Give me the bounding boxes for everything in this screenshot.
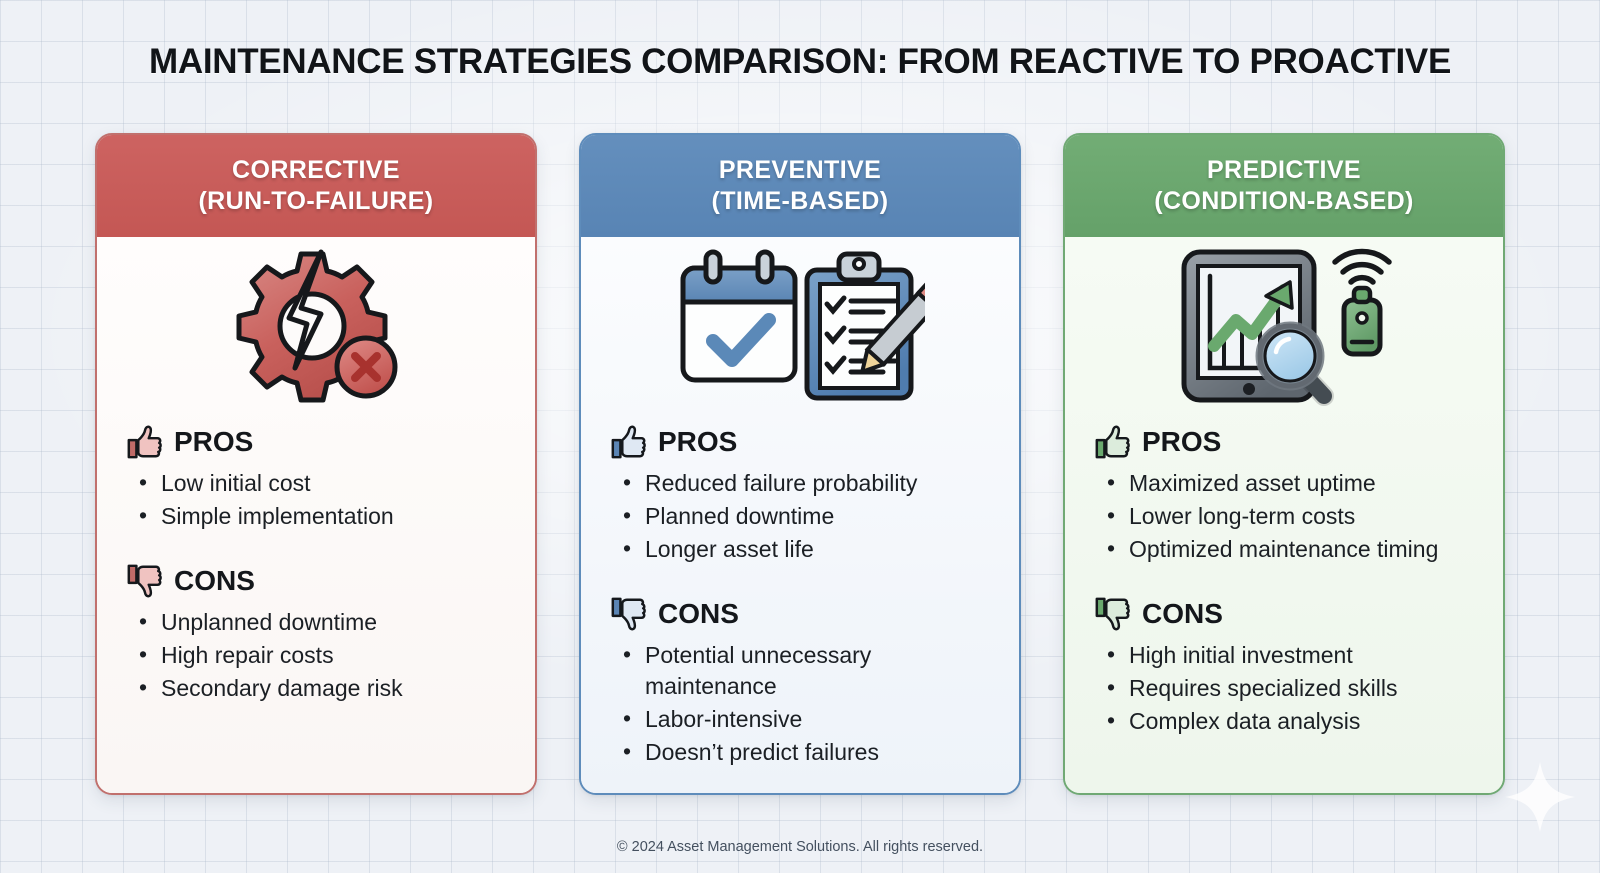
card-corrective[interactable]: CORRECTIVE (RUN-TO-FAILURE) — [95, 133, 537, 795]
list-item: Longer asset life — [623, 534, 991, 565]
card-predictive-title-line1: PREDICTIVE — [1207, 156, 1361, 185]
list-item: Optimized maintenance timing — [1107, 534, 1475, 565]
card-predictive[interactable]: PREDICTIVE (CONDITION-BASED) — [1063, 133, 1505, 795]
thumbs-up-icon — [609, 423, 647, 461]
thumbs-down-icon — [125, 562, 163, 600]
list-item: Requires specialized skills — [1107, 673, 1475, 704]
calendar-clipboard-checklist-pencil-icon — [675, 246, 925, 406]
list-item: Complex data analysis — [1107, 706, 1475, 737]
list-item: High initial investment — [1107, 640, 1475, 671]
copyright-footer: © 2024 Asset Management Solutions. All r… — [0, 839, 1600, 855]
page-title: MAINTENANCE STRATEGIES COMPARISON: FROM … — [0, 42, 1600, 82]
card-predictive-illustration — [1093, 237, 1475, 415]
card-corrective-pros-list: Low initial cost Simple implementation — [125, 468, 507, 534]
card-predictive-cons-label: CONS — [1142, 598, 1223, 630]
card-corrective-header: CORRECTIVE (RUN-TO-FAILURE) — [97, 135, 535, 237]
card-corrective-body: PROS Low initial cost Simple implementat… — [97, 237, 535, 793]
card-corrective-title-line1: CORRECTIVE — [232, 156, 400, 185]
list-item: Secondary damage risk — [139, 673, 507, 704]
card-corrective-cons-list: Unplanned downtime High repair costs Sec… — [125, 607, 507, 704]
card-predictive-pros-list: Maximized asset uptime Lower long-term c… — [1093, 468, 1475, 567]
card-predictive-cons-heading: CONS — [1093, 595, 1475, 633]
list-item: Simple implementation — [139, 501, 507, 532]
card-preventive-title-line2: (TIME-BASED) — [711, 187, 888, 216]
card-predictive-body: PROS Maximized asset uptime Lower long-t… — [1065, 237, 1503, 793]
card-preventive[interactable]: PREVENTIVE (TIME-BASED) — [579, 133, 1021, 795]
broken-gear-with-error-badge-icon — [229, 246, 404, 406]
card-preventive-cons-heading: CONS — [609, 595, 991, 633]
list-item: Low initial cost — [139, 468, 507, 499]
card-predictive-cons-list: High initial investment Requires special… — [1093, 640, 1475, 737]
tablet-trend-chart-magnifier-wireless-sensor-icon — [1172, 246, 1397, 406]
card-preventive-title-line1: PREVENTIVE — [719, 156, 881, 185]
thumbs-up-icon — [1093, 423, 1131, 461]
card-preventive-pros-list: Reduced failure probability Planned down… — [609, 468, 991, 567]
card-preventive-illustration — [609, 237, 991, 415]
list-item: Reduced failure probability — [623, 468, 991, 499]
card-preventive-header: PREVENTIVE (TIME-BASED) — [581, 135, 1019, 237]
list-item: High repair costs — [139, 640, 507, 671]
card-predictive-header: PREDICTIVE (CONDITION-BASED) — [1065, 135, 1503, 237]
thumbs-down-icon — [1093, 595, 1131, 633]
list-item: Planned downtime — [623, 501, 991, 532]
card-predictive-pros-heading: PROS — [1093, 423, 1475, 461]
list-item: Lower long-term costs — [1107, 501, 1475, 532]
list-item: Maximized asset uptime — [1107, 468, 1475, 499]
thumbs-up-icon — [125, 423, 163, 461]
card-preventive-cons-block: CONS Potential unnecessary maintenance L… — [609, 587, 991, 770]
card-corrective-cons-heading: CONS — [125, 562, 507, 600]
card-corrective-pros-heading: PROS — [125, 423, 507, 461]
card-preventive-cons-label: CONS — [658, 598, 739, 630]
card-corrective-cons-block: CONS Unplanned downtime High repair cost… — [125, 554, 507, 706]
card-predictive-title-line2: (CONDITION-BASED) — [1154, 187, 1414, 216]
card-preventive-pros-heading: PROS — [609, 423, 991, 461]
list-item: Potential unnecessary maintenance — [623, 640, 991, 702]
card-predictive-cons-block: CONS High initial investment Requires sp… — [1093, 587, 1475, 739]
card-corrective-illustration — [125, 237, 507, 415]
sparkle-decoration-icon — [1502, 759, 1578, 835]
list-item: Doesn’t predict failures — [623, 737, 991, 768]
thumbs-down-icon — [609, 595, 647, 633]
card-preventive-cons-list: Potential unnecessary maintenance Labor-… — [609, 640, 991, 768]
list-item: Labor-intensive — [623, 704, 991, 735]
card-preventive-pros-label: PROS — [658, 426, 737, 458]
card-corrective-cons-label: CONS — [174, 565, 255, 597]
card-corrective-title-line2: (RUN-TO-FAILURE) — [198, 187, 433, 216]
list-item: Unplanned downtime — [139, 607, 507, 638]
card-predictive-pros-label: PROS — [1142, 426, 1221, 458]
card-preventive-body: PROS Reduced failure probability Planned… — [581, 237, 1019, 793]
strategy-cards-container: CORRECTIVE (RUN-TO-FAILURE) — [95, 133, 1505, 795]
card-corrective-pros-label: PROS — [174, 426, 253, 458]
